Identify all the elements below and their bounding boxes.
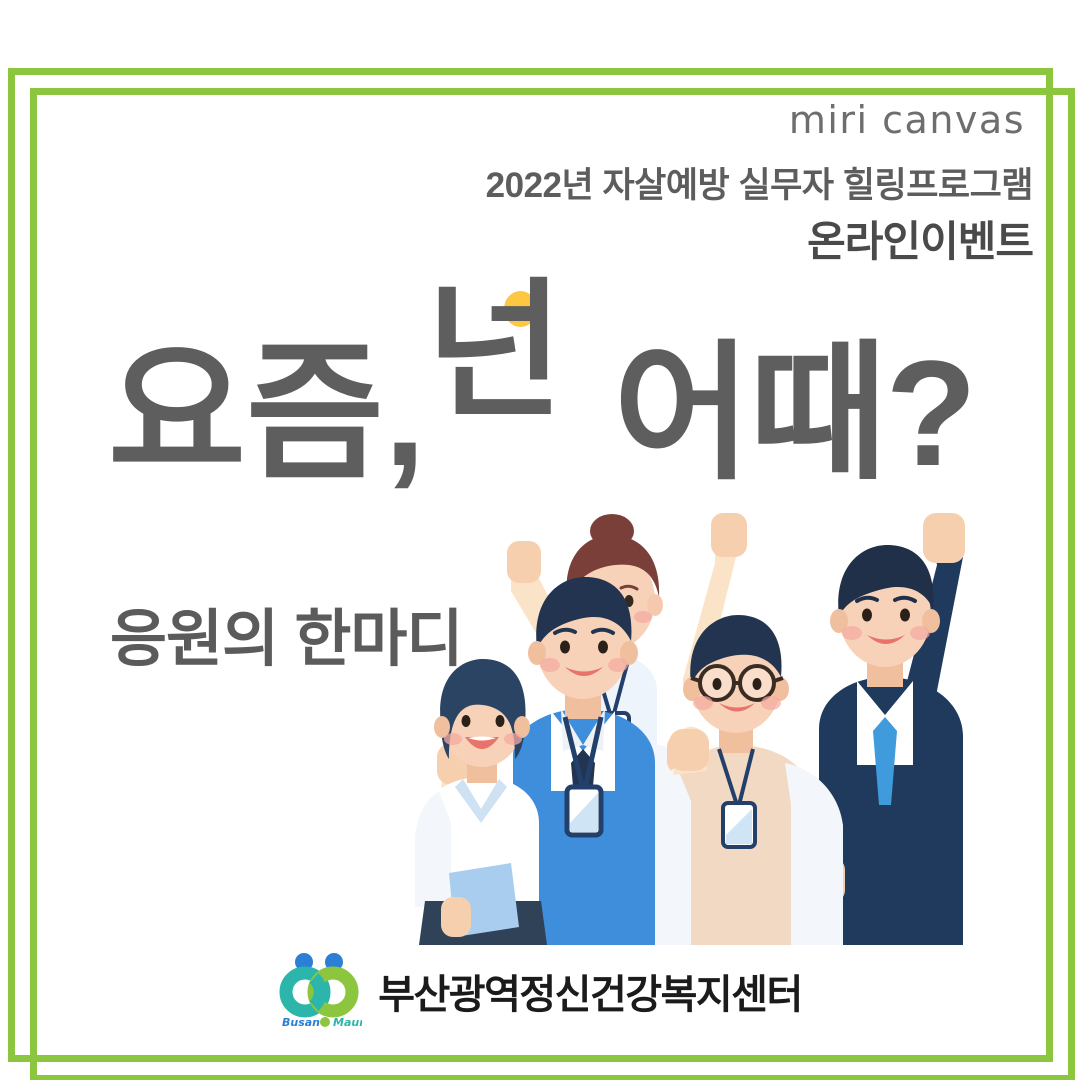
svg-text:Maum: Maum	[333, 1016, 362, 1029]
program-title-line1: 2022년 자살예방 실무자 힐링프로그램	[486, 157, 1033, 208]
busan-maum-logo-icon: Busan Maum	[278, 950, 362, 1032]
cheering-people-illustration	[415, 505, 995, 945]
program-title-line2: 온라인이벤트	[807, 208, 1033, 269]
person-glasses-beige	[641, 615, 843, 945]
main-headline: 요즘,넌 어때?	[108, 338, 1008, 488]
headline-subtitle: 응원의 한마디	[110, 588, 462, 678]
miricanvas-watermark: miri canvas	[789, 98, 1025, 142]
footer-branding: Busan Maum 부산광역정신건강복지센터	[0, 950, 1080, 1032]
svg-text:Busan: Busan	[282, 1016, 320, 1029]
organization-name: 부산광역정신건강복지센터	[378, 962, 802, 1020]
headline-part-2: 넌	[426, 267, 570, 435]
poster-canvas: miri canvas 2022년 자살예방 실무자 힐링프로그램 온라인이벤트…	[0, 0, 1080, 1080]
headline-part-1: 요즘,	[108, 329, 426, 497]
person-woman-left-bob	[415, 659, 547, 945]
headline-part-3: 어때?	[613, 329, 975, 497]
